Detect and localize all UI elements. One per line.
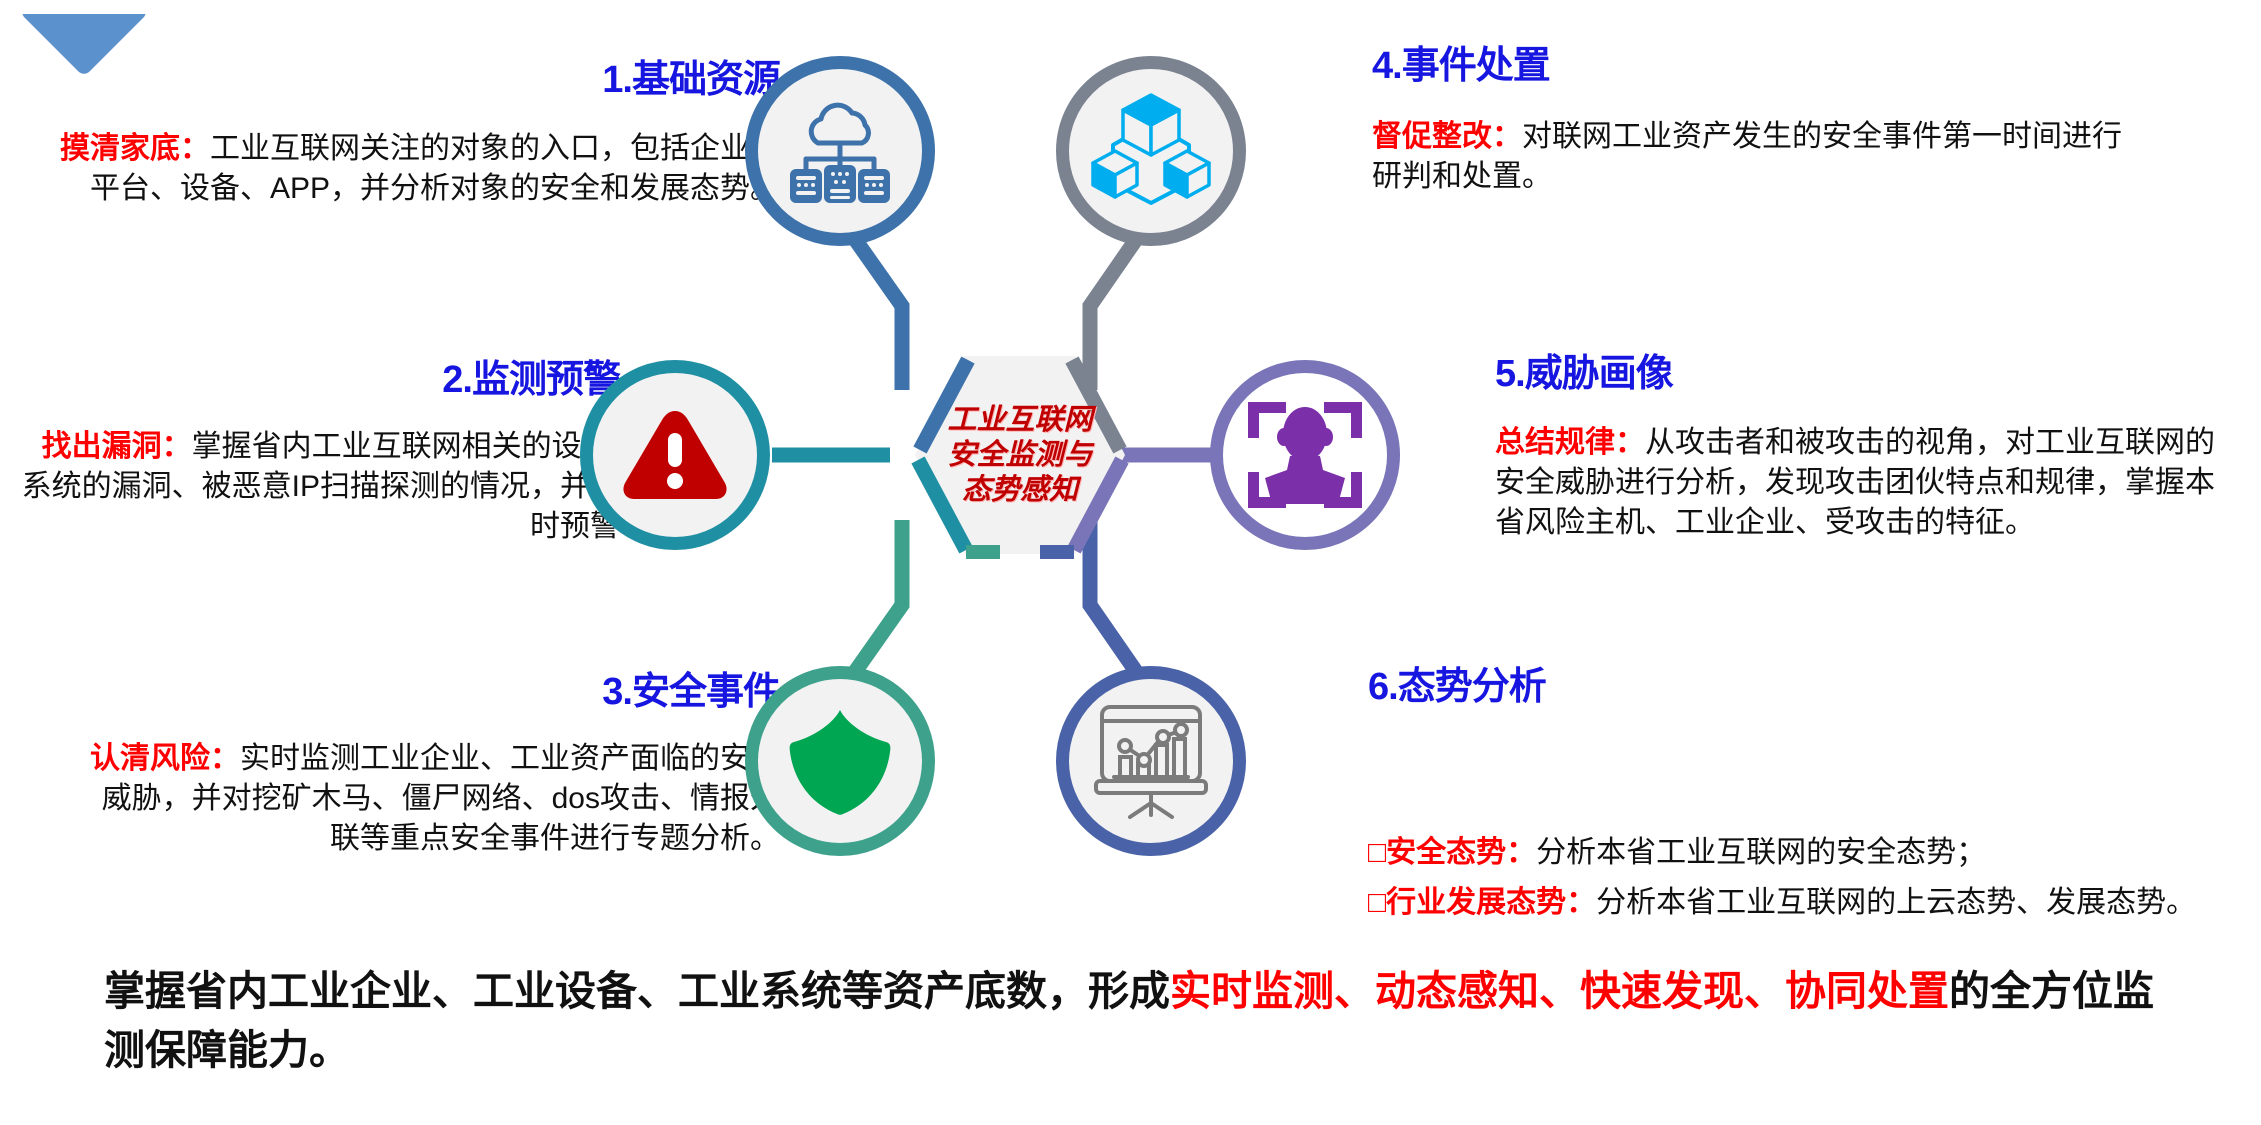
node-incident-handling[interactable] <box>1056 56 1246 246</box>
center-hexagon: 工业互联网 安全监测与 态势感知 <box>910 350 1130 560</box>
section-5-lead: 总结规律： <box>1495 426 1645 459</box>
cubes-network-icon <box>1091 93 1211 209</box>
summary-sep-2: 、 <box>1539 968 1580 1014</box>
summary-highlight-1: 实时监测 <box>1170 968 1334 1014</box>
bullet-1-marker-icon: □ <box>1368 836 1386 869</box>
section-3-lead: 认清风险： <box>90 742 240 775</box>
section-6-title: 6.态势分析 <box>1368 655 2198 710</box>
summary-sep-1: 、 <box>1334 968 1375 1014</box>
summary-highlight-2: 动态感知 <box>1375 968 1539 1014</box>
decorative-chevron-mask <box>14 0 154 14</box>
node-security-events[interactable] <box>745 666 935 856</box>
section-4-number: 4. <box>1372 45 1402 87</box>
section-6-number: 6. <box>1368 666 1398 708</box>
cloud-server-icon <box>784 99 896 203</box>
section-4: 4.事件处置 督促整改：对联网工业资产发生的安全事件第一时间进行研判和处置。 <box>1372 34 2192 197</box>
section-6: 6.态势分析 □安全态势：分析本省工业互联网的安全态势； □行业发展态势：分析本… <box>1368 655 2198 924</box>
bullet-2-text: 分析本省工业互联网的上云态势、发展态势。 <box>1596 886 2196 919</box>
section-6-bullets: □安全态势：分析本省工业互联网的安全态势； □行业发展态势：分析本省工业互联网的… <box>1368 832 2198 924</box>
summary-statement: 掌握省内工业企业、工业设备、工业系统等资产底数，形成实时监测、动态感知、快速发现… <box>104 962 2154 1081</box>
section-4-title: 4.事件处置 <box>1372 34 2192 89</box>
section-2-body: 找出漏洞：掌握省内工业互联网相关的设备/系统的漏洞、被恶意IP扫描探测的情况，并… <box>20 427 620 547</box>
person-scan-icon <box>1246 400 1364 510</box>
bullet-1-text: 分析本省工业互联网的安全态势； <box>1536 836 1986 869</box>
summary-highlight-4: 协同处置 <box>1785 968 1949 1014</box>
section-5-title-text: 威胁画像 <box>1525 353 1673 395</box>
summary-highlight-3: 快速发现 <box>1580 968 1744 1014</box>
node-monitoring-alert[interactable] <box>580 360 770 550</box>
section-5-number: 5. <box>1495 353 1525 395</box>
section-5-title: 5.威胁画像 <box>1495 342 2255 397</box>
section-5: 5.威胁画像 总结规律：从攻击者和被攻击的视角，对工业互联网的安全威胁进行分析，… <box>1495 342 2255 543</box>
section-2: 2.监测预警 找出漏洞：掌握省内工业互联网相关的设备/系统的漏洞、被恶意IP扫描… <box>20 348 620 547</box>
section-6-bullet-1: □安全态势：分析本省工业互联网的安全态势； <box>1368 832 2198 874</box>
infographic-root: 1.基础资源 摸清家底：工业互联网关注的对象的入口，包括企业、平台、设备、APP… <box>0 0 2261 1125</box>
shield-icon <box>786 706 894 816</box>
node-situation-analysis[interactable] <box>1056 666 1246 856</box>
presentation-chart-icon <box>1092 703 1210 819</box>
warning-triangle-icon <box>619 405 731 505</box>
center-line-1: 工业互联网 <box>947 406 1092 435</box>
summary-sep-3: 、 <box>1744 968 1785 1014</box>
bullet-2-lead: 行业发展态势： <box>1386 886 1596 919</box>
node-threat-profile[interactable] <box>1210 360 1400 550</box>
center-line-3: 态势感知 <box>962 476 1078 505</box>
section-4-title-text: 事件处置 <box>1402 45 1550 87</box>
center-hexagon-label: 工业互联网 安全监测与 态势感知 <box>910 350 1130 560</box>
hub-diagram: 工业互联网 安全监测与 态势感知 <box>590 20 1370 880</box>
center-line-2: 安全监测与 <box>947 441 1092 470</box>
section-1-lead: 摸清家底： <box>60 132 210 165</box>
section-4-lead: 督促整改： <box>1372 120 1522 153</box>
section-6-bullet-2: □行业发展态势：分析本省工业互联网的上云态势、发展态势。 <box>1368 882 2198 924</box>
bullet-2-marker-icon: □ <box>1368 886 1386 919</box>
section-2-title: 2.监测预警 <box>20 348 620 403</box>
section-4-body: 督促整改：对联网工业资产发生的安全事件第一时间进行研判和处置。 <box>1372 117 2147 197</box>
section-6-title-text: 态势分析 <box>1398 666 1546 708</box>
section-5-body: 总结规律：从攻击者和被攻击的视角，对工业互联网的安全威胁进行分析，发现攻击团伙特… <box>1495 423 2225 543</box>
node-basic-resources[interactable] <box>745 56 935 246</box>
bullet-1-lead: 安全态势： <box>1386 836 1536 869</box>
summary-part-1: 掌握省内工业企业、工业设备、工业系统等资产底数，形成 <box>104 968 1170 1014</box>
section-2-lead: 找出漏洞： <box>42 430 192 463</box>
section-2-number: 2. <box>442 359 472 401</box>
